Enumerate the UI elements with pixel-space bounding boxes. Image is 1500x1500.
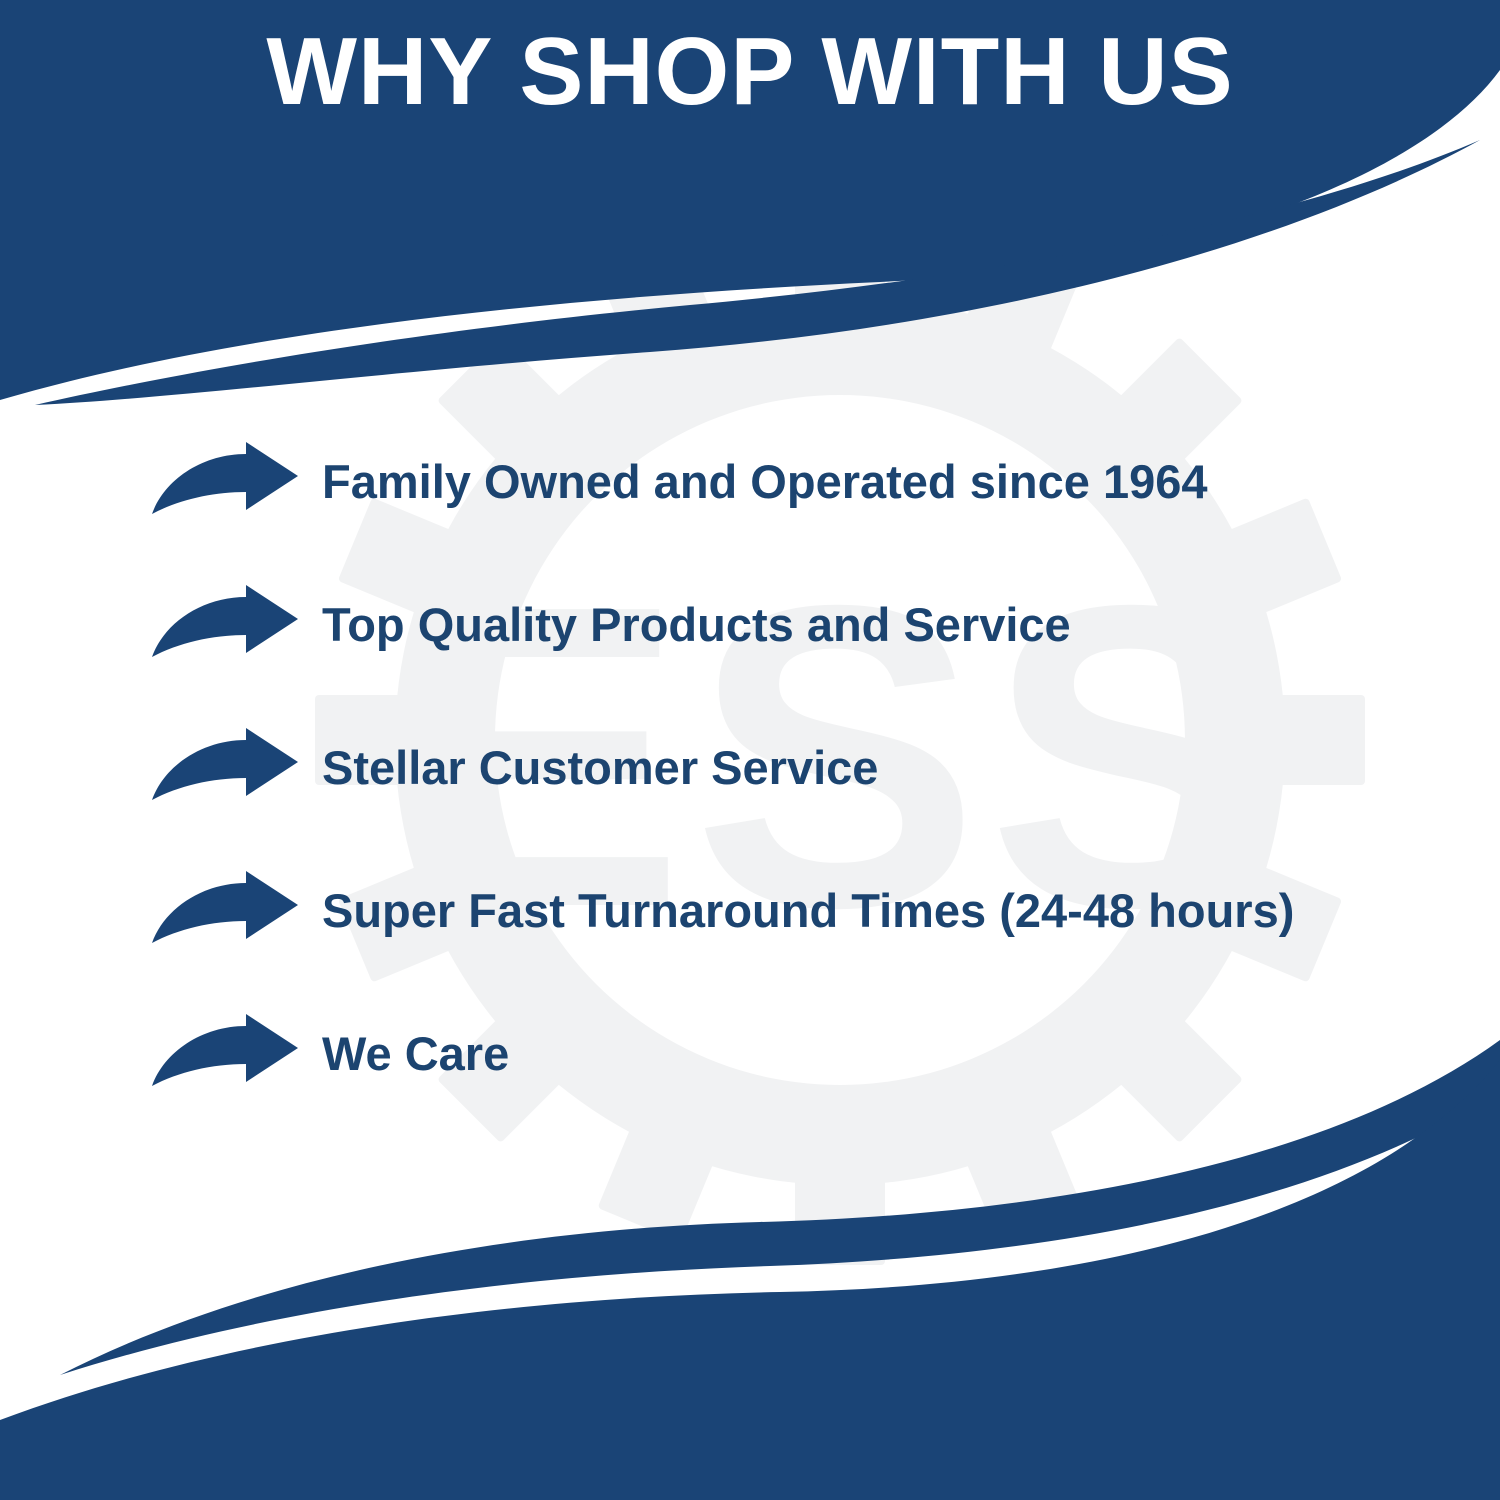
benefit-item: Super Fast Turnaround Times (24-48 hours… [0, 861, 1500, 961]
curved-right-arrow-icon [150, 728, 300, 808]
benefit-label: Super Fast Turnaround Times (24-48 hours… [322, 886, 1294, 935]
benefits-list: Family Owned and Operated since 1964 Top… [0, 432, 1500, 1147]
curved-right-arrow-icon [150, 871, 300, 951]
benefit-item: Family Owned and Operated since 1964 [0, 432, 1500, 532]
benefit-label: Top Quality Products and Service [322, 600, 1071, 649]
benefit-item: Stellar Customer Service [0, 718, 1500, 818]
benefit-item: We Care [0, 1004, 1500, 1104]
benefit-label: We Care [322, 1029, 509, 1078]
benefit-label: Family Owned and Operated since 1964 [322, 457, 1208, 506]
benefit-label: Stellar Customer Service [322, 743, 878, 792]
benefit-item: Top Quality Products and Service [0, 575, 1500, 675]
curved-right-arrow-icon [150, 1014, 300, 1094]
curved-right-arrow-icon [150, 442, 300, 522]
curved-right-arrow-icon [150, 585, 300, 665]
why-shop-with-us-poster: ESS WHY SHOP WITH US Family Owned and Op… [0, 0, 1500, 1500]
